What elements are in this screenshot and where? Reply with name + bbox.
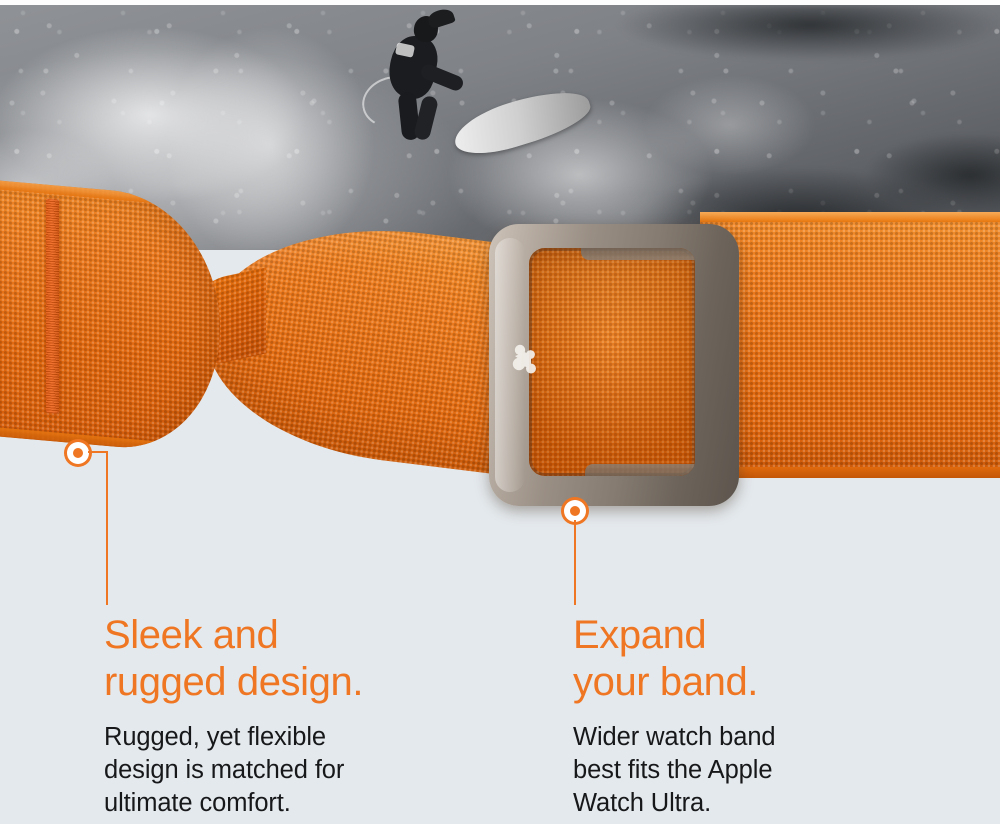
buckle-window-shading — [529, 248, 695, 476]
buckle-top-tab — [581, 248, 695, 260]
band-accent-stripe — [46, 199, 59, 414]
callout-headline-right: Expand your band. — [573, 612, 993, 706]
callout-headline-left: Sleek and rugged design. — [104, 612, 524, 706]
band-weave-texture — [0, 180, 220, 456]
callout-body-right: Wider watch band best fits the Apple Wat… — [573, 721, 993, 820]
band-edge-top — [700, 212, 1000, 222]
buckle-bottom-tab — [585, 464, 695, 476]
surfer-silhouette — [352, 10, 482, 145]
band-weave-texture — [700, 212, 1000, 478]
callout-text-right: Expand your band. Wider watch band best … — [573, 612, 993, 820]
callout-text-left: Sleek and rugged design. Rugged, yet fle… — [104, 612, 524, 820]
surfer-hair — [426, 6, 456, 29]
callout-leader-left-vertical — [106, 451, 108, 605]
callout-ring-dot — [73, 448, 83, 458]
feature-panel: Sleek and rugged design. Rugged, yet fle… — [0, 0, 1000, 824]
spigen-s-logo-icon — [511, 342, 541, 378]
band-buckle — [489, 224, 739, 506]
buckle-window-band — [529, 248, 695, 476]
band-right-section — [700, 212, 1000, 478]
callout-ring-icon-right[interactable] — [564, 500, 586, 522]
callout-ring-dot — [570, 506, 580, 516]
callout-body-left: Rugged, yet flexible design is matched f… — [104, 721, 524, 820]
callout-leader-left-horizontal — [88, 451, 108, 453]
callout-ring-icon-left[interactable] — [67, 442, 89, 464]
band-edge-bottom — [700, 467, 1000, 478]
callout-leader-right-vertical — [574, 520, 576, 605]
band-left-end — [0, 180, 220, 456]
